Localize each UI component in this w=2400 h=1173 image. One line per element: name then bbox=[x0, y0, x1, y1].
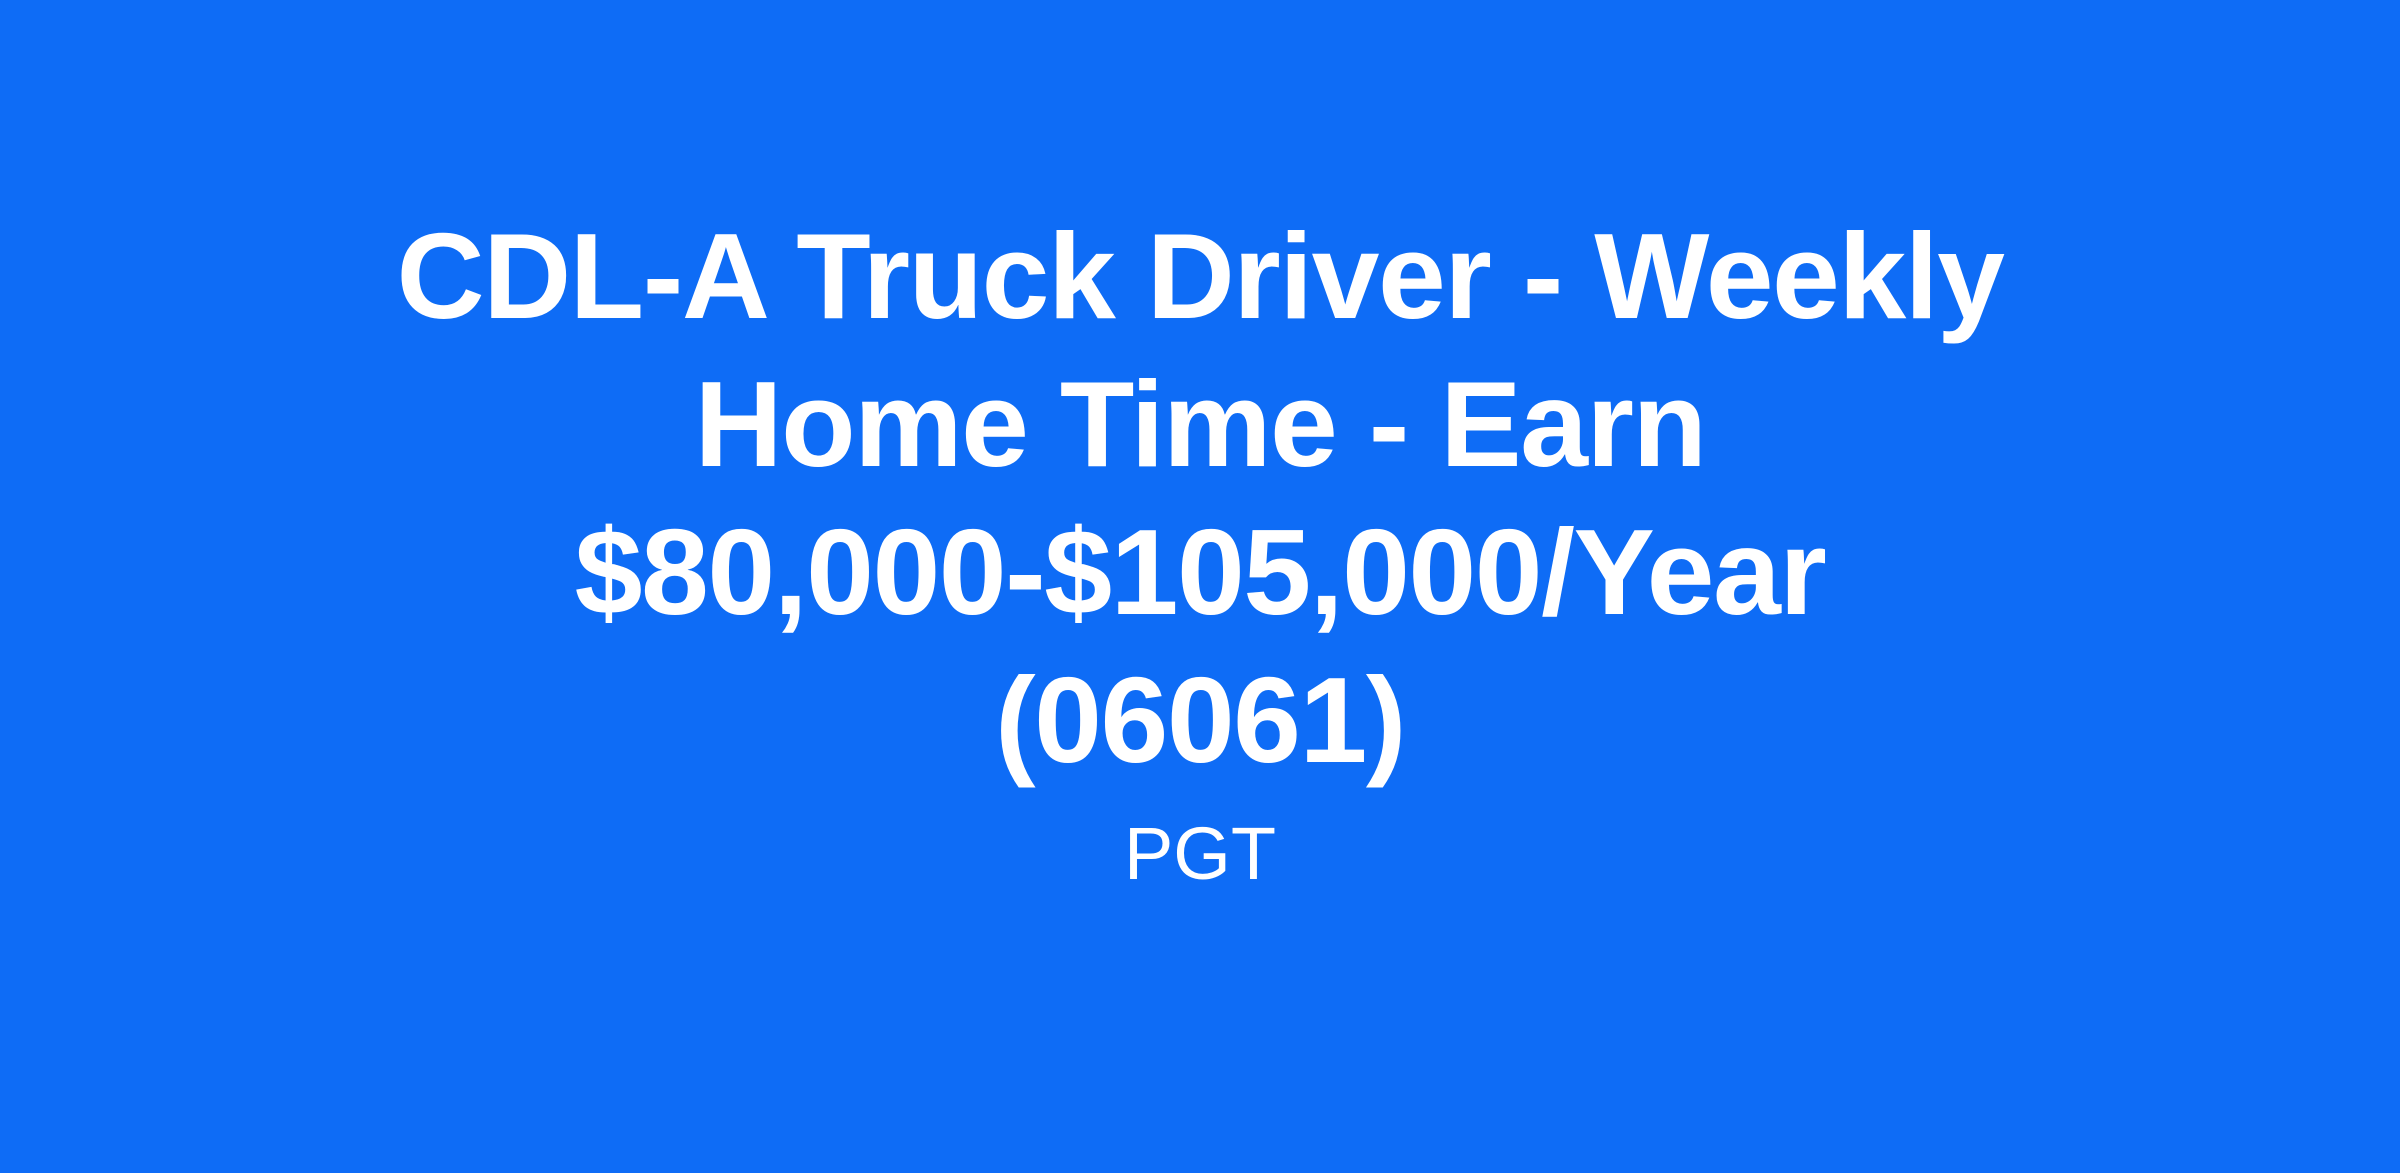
job-share-card: CDL-A Truck Driver - Weekly Home Time - … bbox=[0, 0, 2400, 1173]
company-name: PGT bbox=[1124, 808, 1276, 900]
job-title: CDL-A Truck Driver - Weekly Home Time - … bbox=[390, 202, 2010, 794]
card-content: CDL-A Truck Driver - Weekly Home Time - … bbox=[390, 202, 2010, 900]
